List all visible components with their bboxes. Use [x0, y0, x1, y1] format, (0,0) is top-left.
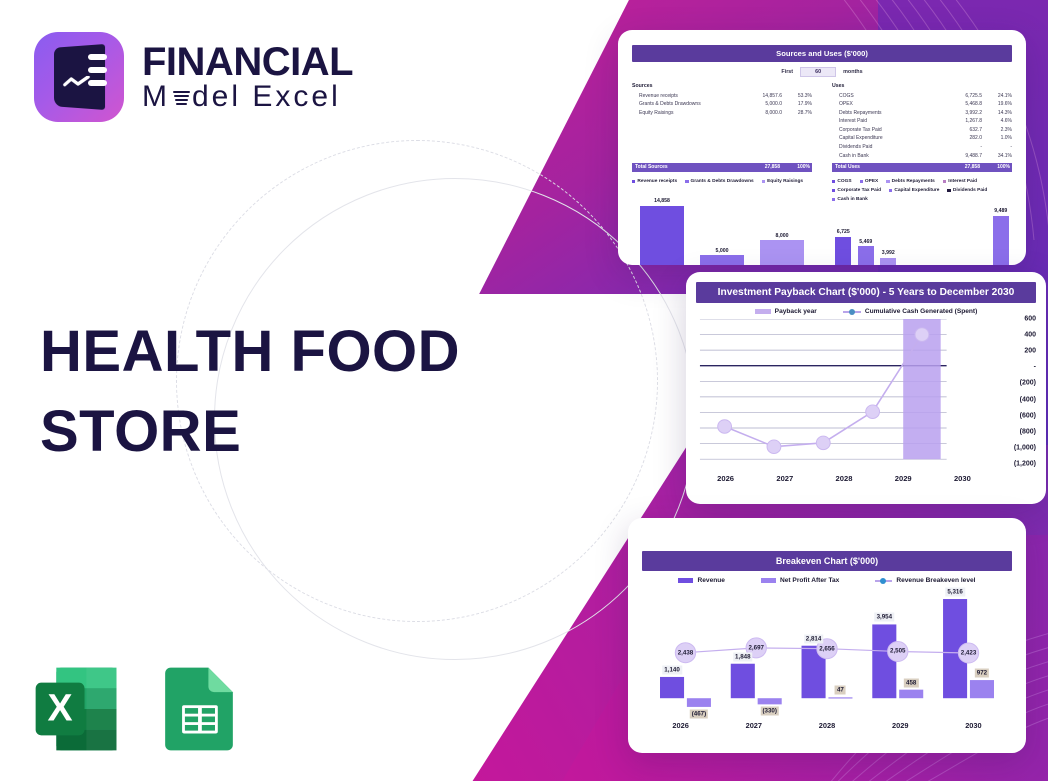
line-data-label: 2,656 [817, 644, 836, 653]
row-percent: 24.1% [982, 92, 1012, 101]
bar-label: 14,858 [654, 198, 670, 204]
row-label: Capital Expenditure [832, 134, 940, 143]
legend-item: Dividends Paid [947, 188, 987, 193]
page-title: HEALTH FOOD STORE [40, 312, 470, 472]
bar-label: 8,000 [776, 233, 789, 239]
table-row: Debts Repayments3,992.214.3% [832, 109, 1012, 118]
table-row: Corporate Tax Paid632.72.3% [832, 126, 1012, 135]
card-sources-and-uses: Sources and Uses ($'000) First 60 months… [618, 30, 1026, 265]
legend-swatch-icon [889, 189, 892, 192]
legend-swatch-icon [860, 180, 863, 183]
legend-payback-year: Payback year [755, 308, 817, 315]
total-label: Total Sources [632, 163, 738, 172]
legend-label: Interest Paid [948, 179, 977, 184]
bar-label: 5,469 [859, 239, 872, 245]
poster-canvas: FINANCIAL M del Excel HEALTH FOOD STORE … [0, 0, 1048, 781]
row-percent: - [982, 143, 1012, 152]
bar-rect [760, 240, 803, 265]
legend-swatch-icon [832, 189, 835, 192]
microsoft-excel-icon: X [30, 662, 124, 756]
row-percent: 4.6% [982, 117, 1012, 126]
x-tick-label: 2028 [814, 474, 873, 483]
sources-uses-title: Sources and Uses ($'000) [632, 45, 1012, 62]
row-value: 14,857.6 [740, 92, 782, 101]
table-row: COGS6,725.524.1% [832, 92, 1012, 101]
y-tick-label: (800) [1020, 428, 1036, 435]
y-tick-label: (1,000) [1014, 444, 1036, 451]
y-tick-label: 600 [1024, 316, 1036, 323]
legend-item: Corporate Tax Paid [832, 188, 881, 193]
bar-rect [993, 216, 1009, 265]
google-sheets-icon [152, 662, 246, 756]
bar-label: 5,000 [716, 248, 729, 254]
line-data-label: 2,438 [676, 648, 695, 657]
breakeven-x-axis-labels: 20262027202820292030 [644, 721, 1010, 730]
payback-y-axis-labels: 600400200-(200)(400)(600)(800)(1,000)(1,… [996, 319, 1036, 464]
legend-item: COGS [832, 179, 852, 184]
line-data-label: 2,697 [746, 643, 765, 652]
row-value: 5,000.0 [740, 100, 782, 109]
brand-name-bottom-pre: M [142, 82, 170, 112]
table-row: Grants & Debts Drawdowns 5,000.0 17.9% [632, 100, 812, 109]
y-tick-label: (1,200) [1014, 461, 1036, 468]
bar-data-label: 1,848 [733, 652, 752, 661]
sources-uses-charts: Revenue receiptsGrants & Debts Drawdowns… [618, 172, 1026, 265]
bar-rect [835, 237, 851, 265]
bar-rect [858, 246, 874, 265]
uses-chart-legend: COGSOPEXDebts RepaymentsInterest PaidCor… [832, 179, 1012, 202]
table-row: OPEX5,468.819.6% [832, 100, 1012, 109]
sources-bars: 14,8585,0008,000 [632, 184, 812, 265]
x-tick-label: 2026 [644, 721, 717, 730]
legend-swatch-icon [947, 189, 950, 192]
brand-name-bottom: M del Excel [142, 82, 353, 112]
legend-line-marker-icon [843, 311, 861, 313]
legend-breakeven-level: Revenue Breakeven level [875, 577, 975, 584]
table-row: Interest Paid1,267.84.6% [832, 117, 1012, 126]
brand-wordmark: FINANCIAL M del Excel [142, 42, 353, 112]
row-label: Equity Raisings [632, 109, 740, 118]
row-percent: 19.6% [982, 100, 1012, 109]
bar-data-label: (330) [760, 707, 778, 716]
bar-data-label: 5,316 [945, 588, 964, 597]
payback-plot: 600400200-(200)(400)(600)(800)(1,000)(1,… [696, 319, 1036, 479]
legend-swatch-icon [832, 198, 835, 201]
row-percent: 34.1% [982, 152, 1012, 161]
y-tick-label: (600) [1020, 412, 1036, 419]
bar-rect [700, 255, 743, 265]
card-breakeven: Breakeven Chart ($'000) Revenue Net Prof… [628, 518, 1026, 753]
bar-label: 3,992 [882, 250, 895, 256]
bar-item: 9,489 [990, 202, 1013, 265]
bar-data-label: 3,954 [875, 613, 894, 622]
legend-label: Corporate Tax Paid [837, 188, 881, 193]
legend-swatch-icon [832, 180, 835, 183]
card-investment-payback: Investment Payback Chart ($'000) - 5 Yea… [686, 272, 1046, 504]
bar-item: 3,992 [877, 202, 900, 265]
legend-item: Interest Paid [943, 179, 977, 184]
logo-o-glyph-icon [170, 84, 192, 110]
breakeven-legend: Revenue Net Profit After Tax Revenue Bre… [628, 577, 1026, 584]
bar-label: 6,725 [837, 229, 850, 235]
uses-rows: COGS6,725.524.1%OPEX5,468.819.6%Debts Re… [832, 92, 1012, 161]
row-value: 282.0 [940, 134, 982, 143]
legend-swatch-icon [886, 180, 889, 183]
payback-title: Investment Payback Chart ($'000) - 5 Yea… [696, 282, 1036, 303]
legend-line-marker-icon [875, 580, 892, 582]
row-percent: 14.3% [982, 109, 1012, 118]
row-label: Interest Paid [832, 117, 940, 126]
row-value: 3,992.2 [940, 109, 982, 118]
bar-data-label: 2,814 [804, 634, 823, 643]
sources-bar-chart: Revenue receiptsGrants & Debts Drawdowns… [632, 179, 824, 265]
legend-label: OPEX [865, 179, 878, 184]
bar-item: 6,725 [832, 202, 855, 265]
total-percent: 100% [980, 163, 1012, 172]
uses-total-row: Total Uses 27,858 100% [832, 163, 1012, 172]
bar-item: 8,000 [752, 184, 812, 265]
total-label: Total Uses [832, 163, 938, 172]
table-row: Cash in Bank9,488.734.1% [832, 152, 1012, 161]
bar-data-label: (467) [690, 709, 708, 718]
row-percent: 53.3% [782, 92, 812, 101]
period-prefix-label: First [781, 69, 793, 75]
bar-item: 282 [945, 202, 968, 265]
legend-swatch-icon [762, 180, 765, 183]
spacer [632, 117, 812, 160]
document-chart-icon [34, 32, 124, 122]
legend-swatch-icon [943, 180, 946, 183]
bar-item: 1,268 [900, 202, 923, 265]
uses-bar-chart: COGSOPEXDebts RepaymentsInterest PaidCor… [824, 179, 1012, 265]
y-tick-label: (400) [1020, 396, 1036, 403]
x-tick-label: 2030 [937, 721, 1010, 730]
uses-heading: Uses [832, 83, 1012, 89]
row-value: 9,488.7 [940, 152, 982, 161]
y-tick-label: (200) [1020, 380, 1036, 387]
legend-label: Cumulative Cash Generated (Spent) [865, 308, 977, 315]
bar-rect [880, 258, 896, 265]
legend-label: Payback year [775, 308, 817, 315]
bar-item: 633 [922, 202, 945, 265]
legend-label: Revenue [697, 577, 725, 584]
x-tick-label: 2026 [696, 474, 755, 483]
y-tick-label: - [1034, 364, 1036, 371]
table-row: Revenue receipts 14,857.6 53.3% [632, 92, 812, 101]
period-months-input[interactable]: 60 [800, 67, 836, 77]
period-suffix-label: months [843, 69, 862, 75]
uses-column: Uses COGS6,725.524.1%OPEX5,468.819.6%Deb… [824, 83, 1012, 172]
logo-list-lines [88, 54, 107, 86]
sources-column: Sources Revenue receipts 14,857.6 53.3% … [632, 83, 824, 172]
line-data-label: 2,505 [888, 647, 907, 656]
legend-item: Capital Expenditure [889, 188, 939, 193]
uses-bars: 6,7255,4693,9921,26863328209,489 [832, 202, 1012, 265]
bar-data-label: 972 [975, 669, 989, 678]
bar-item: 0 [967, 202, 990, 265]
bar-item: 5,000 [692, 184, 752, 265]
legend-swatch-icon [678, 578, 693, 583]
legend-npat: Net Profit After Tax [761, 577, 839, 584]
sources-uses-table: Sources Revenue receipts 14,857.6 53.3% … [618, 77, 1026, 172]
legend-cumulative-cash: Cumulative Cash Generated (Spent) [843, 308, 977, 315]
brand-logo: FINANCIAL M del Excel [34, 32, 353, 122]
row-label: Grants & Debts Drawdowns [632, 100, 740, 109]
table-row: Dividends Paid-- [832, 143, 1012, 152]
legend-label: COGS [837, 179, 851, 184]
legend-label: Debts Repayments [892, 179, 935, 184]
legend-label: Net Profit After Tax [780, 577, 839, 584]
x-tick-label: 2027 [755, 474, 814, 483]
breakeven-title: Breakeven Chart ($'000) [642, 551, 1012, 571]
x-tick-label: 2030 [933, 474, 992, 483]
payback-x-axis-labels: 20262027202820292030 [696, 474, 992, 483]
legend-item: Debts Repayments [886, 179, 935, 184]
x-tick-label: 2027 [717, 721, 790, 730]
x-tick-label: 2028 [790, 721, 863, 730]
row-percent: 17.9% [782, 100, 812, 109]
row-value: - [940, 143, 982, 152]
row-value: 8,000.0 [740, 109, 782, 118]
y-tick-label: 400 [1024, 332, 1036, 339]
row-label: OPEX [832, 100, 940, 109]
brand-name-bottom-post: del Excel [192, 82, 341, 112]
brand-name-top: FINANCIAL [142, 42, 353, 82]
bar-label: 9,489 [994, 208, 1007, 214]
row-value: 1,267.8 [940, 117, 982, 126]
total-value: 27,858 [938, 163, 980, 172]
row-label: Corporate Tax Paid [832, 126, 940, 135]
row-label: COGS [832, 92, 940, 101]
row-label: Debts Repayments [832, 109, 940, 118]
y-tick-label: 200 [1024, 348, 1036, 355]
logo-zigzag-icon [63, 76, 90, 88]
sources-heading: Sources [632, 83, 812, 89]
payback-legend: Payback year Cumulative Cash Generated (… [686, 308, 1046, 315]
legend-swatch-icon [761, 578, 776, 583]
row-percent: 28.7% [782, 109, 812, 118]
payback-chart-svg [696, 319, 992, 464]
row-percent: 1.0% [982, 134, 1012, 143]
bar-item: 14,858 [632, 184, 692, 265]
row-label: Revenue receipts [632, 92, 740, 101]
row-label: Dividends Paid [832, 143, 940, 152]
total-percent: 100% [780, 163, 812, 172]
bar-data-label: 458 [904, 678, 918, 687]
legend-swatch-icon [685, 180, 688, 183]
table-row: Capital Expenditure282.01.0% [832, 134, 1012, 143]
bar-data-label: 1,140 [662, 665, 681, 674]
line-data-label: 2,423 [959, 649, 978, 658]
row-value: 632.7 [940, 126, 982, 135]
bar-data-label: 47 [835, 686, 846, 695]
period-selector[interactable]: First 60 months [618, 67, 1026, 77]
svg-text:X: X [48, 686, 73, 728]
legend-item: OPEX [860, 179, 879, 184]
total-value: 27,858 [738, 163, 780, 172]
bar-item: 5,469 [855, 202, 878, 265]
legend-label: Dividends Paid [953, 188, 987, 193]
legend-revenue: Revenue [678, 577, 725, 584]
legend-swatch-icon [632, 180, 635, 183]
legend-swatch-icon [755, 309, 771, 314]
legend-label: Revenue Breakeven level [896, 577, 975, 584]
row-percent: 2.3% [982, 126, 1012, 135]
row-value: 6,725.5 [940, 92, 982, 101]
sources-total-row: Total Sources 27,858 100% [632, 163, 812, 172]
row-label: Cash in Bank [832, 152, 940, 161]
bar-rect [640, 206, 683, 265]
file-format-icons: X [30, 662, 246, 756]
legend-label: Capital Expenditure [894, 188, 939, 193]
breakeven-data-labels: 1,140(467)2,4381,848(330)2,6972,814472,6… [644, 590, 1010, 715]
x-tick-label: 2029 [874, 474, 933, 483]
table-row: Equity Raisings 8,000.0 28.7% [632, 109, 812, 118]
breakeven-plot: 1,140(467)2,4381,848(330)2,6972,814472,6… [644, 590, 1010, 728]
row-value: 5,468.8 [940, 100, 982, 109]
x-tick-label: 2029 [864, 721, 937, 730]
